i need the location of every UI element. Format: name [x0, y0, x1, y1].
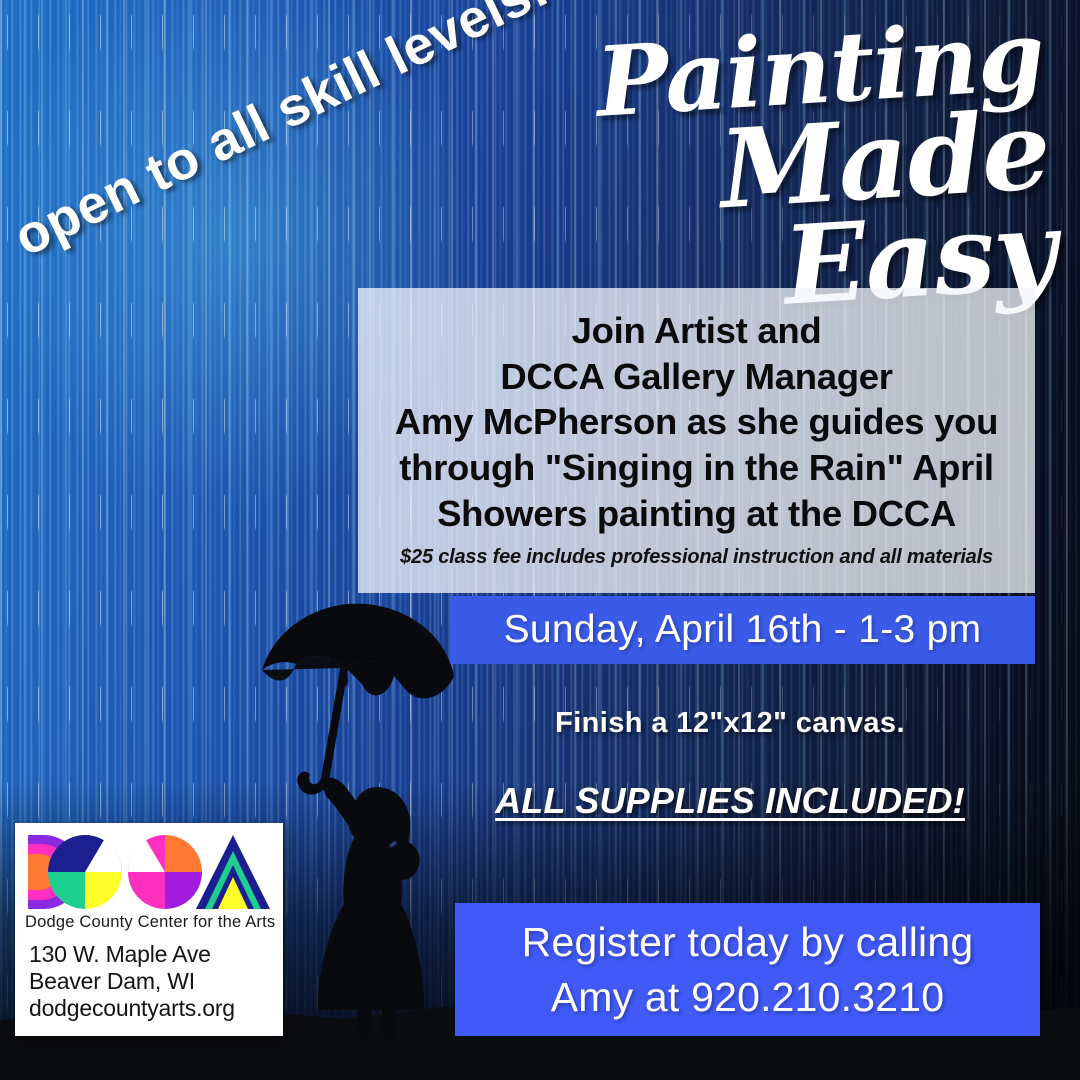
event-date-banner: Sunday, April 16th - 1-3 pm — [450, 596, 1035, 664]
register-call-to-action[interactable]: Register today by calling Amy at 920.210… — [455, 903, 1040, 1036]
description-line-4: through "Singing in the Rain" April — [370, 445, 1023, 491]
page-title: Painting Made Easy — [562, 12, 1059, 330]
dcca-logo-card: Dodge County Center for the Arts 130 W. … — [15, 823, 283, 1036]
address-line-1: 130 W. Maple Ave — [29, 941, 273, 968]
description-line-1: Join Artist and — [370, 308, 1023, 354]
dcca-logo-icon — [26, 833, 272, 911]
class-fee-note: $25 class fee includes professional inst… — [400, 546, 993, 569]
register-line-1: Register today by calling — [522, 915, 974, 969]
class-description-panel: Join Artist and DCCA Gallery Manager Amy… — [358, 288, 1035, 593]
event-date-text: Sunday, April 16th - 1-3 pm — [504, 608, 982, 652]
dcca-logo-tagline: Dodge County Center for the Arts — [25, 913, 273, 932]
address-line-2: Beaver Dam, WI — [29, 968, 273, 995]
venue-address: 130 W. Maple Ave Beaver Dam, WI dodgecou… — [25, 941, 273, 1022]
supplies-included-note: ALL SUPPLIES INCLUDED! — [420, 780, 1040, 822]
description-line-2: DCCA Gallery Manager — [370, 354, 1023, 400]
register-line-2: Amy at 920.210.3210 — [551, 970, 945, 1024]
website-link[interactable]: dodgecountyarts.org — [29, 995, 273, 1022]
canvas-size-note: Finish a 12"x12" canvas. — [420, 707, 1040, 740]
description-line-3: Amy McPherson as she guides you — [370, 399, 1023, 445]
poster-canvas: Painting Made Easy open to all skill lev… — [0, 0, 1080, 1080]
description-line-5: Showers painting at the DCCA — [370, 491, 1023, 537]
